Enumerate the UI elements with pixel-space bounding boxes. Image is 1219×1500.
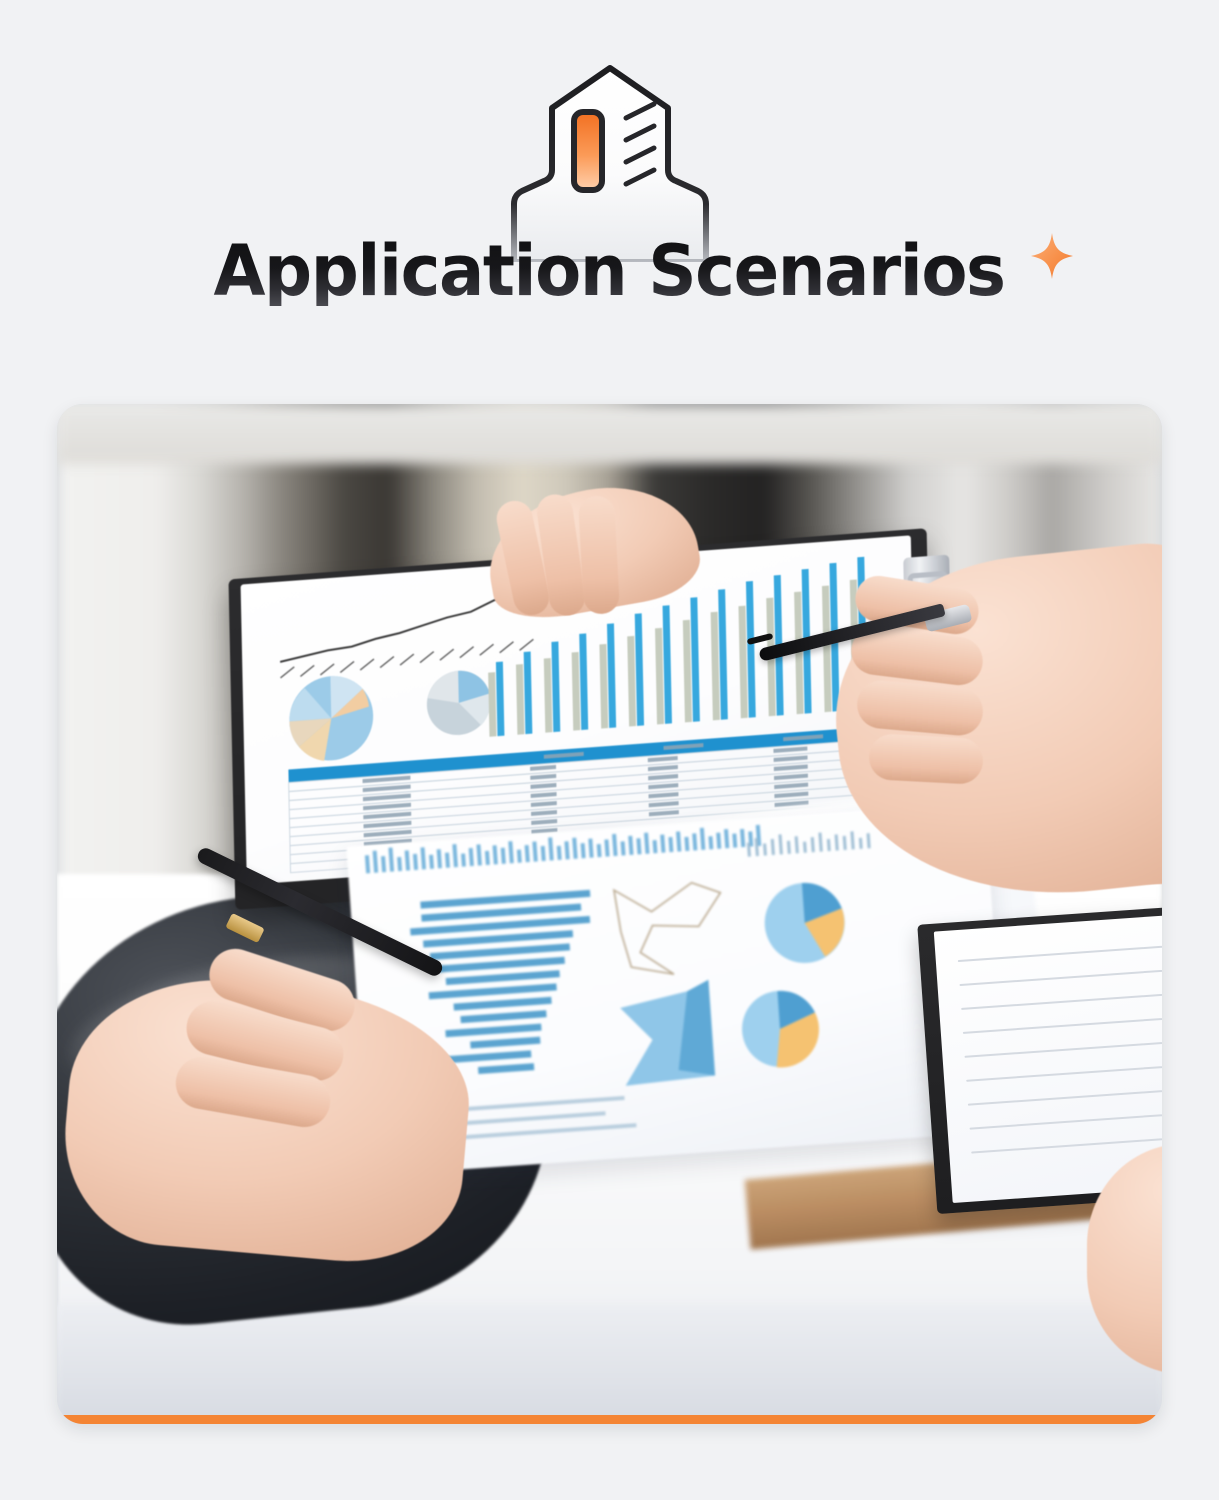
second-clipboard-paper [934, 912, 1162, 1203]
photo-scene [57, 404, 1162, 1424]
desk-front-edge [57, 1304, 1162, 1424]
scenario-photo: Document Con [57, 404, 1162, 1424]
office-background-top [57, 404, 1162, 464]
sparkle-star-icon [1030, 232, 1074, 280]
page-header: Application Scenarios [0, 0, 1219, 390]
page-title: Application Scenarios [214, 236, 1005, 306]
